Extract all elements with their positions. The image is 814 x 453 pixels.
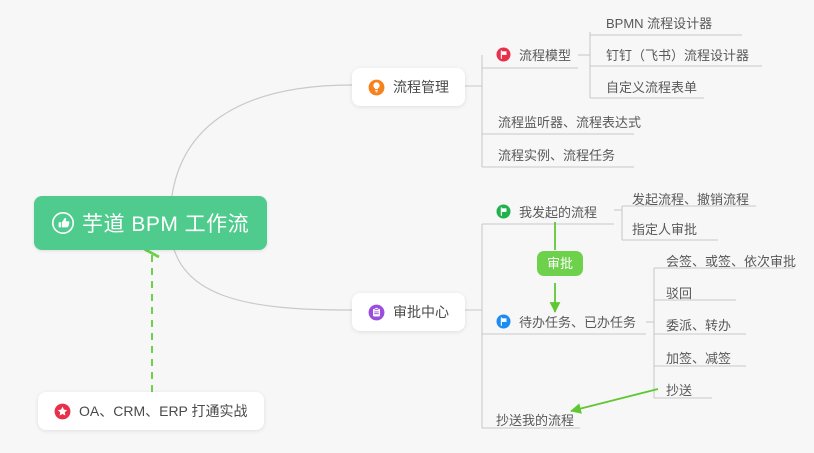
green-flag-icon [496,204,511,219]
node-label-process-model: 流程模型 [519,45,571,64]
node-cc[interactable]: 抄送 [658,376,700,405]
floating-node-label: OA、CRM、ERP 打通实战 [79,401,248,421]
node-label-my-started-processes: 我发起的流程 [519,202,597,221]
blue-flag-icon [496,314,511,329]
node-label-custom-form: 自定义流程表单 [606,77,697,96]
node-custom-form[interactable]: 自定义流程表单 [598,73,705,102]
node-process-instance[interactable]: 流程实例、流程任务 [490,141,623,170]
node-label-delegate-transfer: 委派、转办 [666,315,731,334]
node-delegate-transfer[interactable]: 委派、转办 [658,311,739,340]
node-process-model[interactable]: 流程模型 [488,41,579,70]
node-dingtalk-designer[interactable]: 钉钉（飞书）流程设计器 [598,41,757,70]
node-countersign[interactable]: 会签、或签、依次审批 [658,247,804,276]
star-icon [54,403,71,420]
node-label-cc-to-me: 抄送我的流程 [496,410,574,429]
node-todo-done-tasks[interactable]: 待办任务、已办任务 [488,308,644,337]
clipboard-icon [368,304,385,321]
branch-label-approval-center: 审批中心 [393,302,449,322]
node-label-process-instance: 流程实例、流程任务 [498,145,615,164]
red-flag-icon [496,47,511,62]
node-label-bpmn-designer: BPMN 流程设计器 [606,13,712,32]
root-label: 芋道 BPM 工作流 [82,208,249,238]
node-bpmn-designer[interactable]: BPMN 流程设计器 [598,9,720,38]
thumbs-up-icon [52,212,74,234]
branch-node-approval-center[interactable]: 审批中心 [352,293,465,331]
node-reject[interactable]: 驳回 [658,279,700,308]
floating-node-integration[interactable]: OA、CRM、ERP 打通实战 [38,392,264,430]
node-label-todo-done-tasks: 待办任务、已办任务 [519,312,636,331]
node-label-assignee-approval: 指定人审批 [632,219,697,238]
node-my-started-processes[interactable]: 我发起的流程 [488,198,605,227]
node-process-listener[interactable]: 流程监听器、流程表达式 [490,108,649,137]
lightbulb-icon [368,79,385,96]
node-add-remove-sign[interactable]: 加签、减签 [658,344,739,373]
node-label-dingtalk-designer: 钉钉（飞书）流程设计器 [606,45,749,64]
node-cc-to-me[interactable]: 抄送我的流程 [488,406,582,435]
node-label-cc: 抄送 [666,380,692,399]
node-label-reject: 驳回 [666,283,692,302]
approval-arrow-badge: 审批 [537,251,583,276]
node-label-start-cancel-process: 发起流程、撤销流程 [632,189,749,208]
approval-arrow-badge-label: 审批 [547,256,573,271]
node-label-add-remove-sign: 加签、减签 [666,348,731,367]
branch-label-process-management: 流程管理 [393,77,449,97]
arrow-cc-link [571,389,658,411]
mindmap-canvas: 芋道 BPM 工作流 OA、CRM、ERP 打通实战 流程管理 [0,0,814,453]
node-label-process-listener: 流程监听器、流程表达式 [498,112,641,131]
node-label-countersign: 会签、或签、依次审批 [666,251,796,270]
node-start-cancel-process[interactable]: 发起流程、撤销流程 [624,185,757,214]
node-assignee-approval[interactable]: 指定人审批 [624,215,705,244]
root-node[interactable]: 芋道 BPM 工作流 [34,196,267,250]
branch-node-process-management[interactable]: 流程管理 [352,68,465,106]
